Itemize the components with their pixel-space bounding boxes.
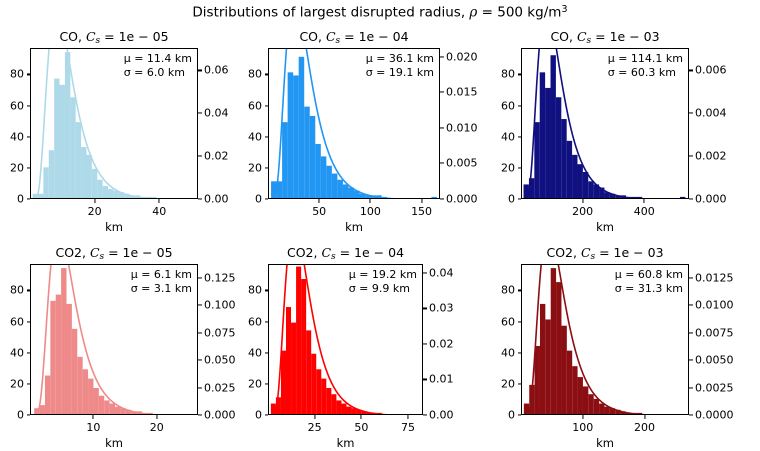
y-tickmark-right — [689, 70, 693, 71]
x-axis-label: km — [30, 436, 198, 450]
panel-co2-cs-1e-03: CO2, Cs = 1e − 03μ = 60.8 kmσ = 31.3 km0… — [521, 264, 689, 415]
y-tick-right: 0.000 — [695, 193, 727, 206]
y-tickmark-right — [440, 198, 444, 199]
y-tick-right: 0.100 — [204, 299, 236, 312]
y-tick-left: 80 — [501, 68, 515, 81]
y-tickmark-left — [265, 290, 269, 291]
y-tickmark-right — [198, 277, 202, 278]
x-tick: 200 — [634, 421, 655, 434]
stats-annotation: μ = 114.1 kmσ = 60.3 km — [608, 52, 683, 80]
x-axis-label: km — [521, 220, 689, 234]
y-tick-right: 0.02 — [429, 337, 454, 350]
y-tick-left: 20 — [501, 377, 515, 390]
x-tick: 150 — [411, 205, 432, 218]
x-axis-label: km — [30, 220, 198, 234]
y-tick-left: 80 — [10, 284, 24, 297]
y-tick-right: 0.03 — [429, 302, 454, 315]
y-tick-left: 60 — [248, 315, 262, 328]
panel-title: CO2, Cs = 1e − 05 — [30, 245, 198, 262]
y-tickmark-left — [27, 414, 31, 415]
y-tick-right: 0.0050 — [695, 354, 734, 367]
y-tickmark-left — [265, 321, 269, 322]
y-tick-right: 0.015 — [446, 86, 478, 99]
y-tick-right: 0.06 — [204, 64, 229, 77]
y-tickmark-right — [440, 56, 444, 57]
x-axis-label: km — [268, 220, 440, 234]
y-tick-left: 0 — [508, 193, 515, 206]
y-tickmark-left — [518, 136, 522, 137]
mu-label: μ = 114.1 km — [608, 52, 683, 66]
stats-annotation: μ = 60.8 kmσ = 31.3 km — [615, 268, 683, 296]
stats-annotation: μ = 11.4 kmσ = 6.0 km — [124, 52, 192, 80]
sigma-label: σ = 60.3 km — [608, 66, 683, 80]
y-tickmark-left — [27, 352, 31, 353]
y-tick-left: 60 — [248, 99, 262, 112]
y-tickmark-right — [689, 332, 693, 333]
y-tickmark-left — [27, 383, 31, 384]
y-tickmark-left — [265, 414, 269, 415]
y-tickmark-right — [423, 308, 427, 309]
y-tickmark-left — [518, 290, 522, 291]
y-tickmark-left — [265, 352, 269, 353]
x-tickmark — [582, 199, 583, 203]
y-tickmark-left — [27, 321, 31, 322]
y-tick-right: 0.020 — [446, 50, 478, 63]
sigma-label: σ = 9.9 km — [349, 282, 417, 296]
y-tick-left: 40 — [10, 130, 24, 143]
y-tick-left: 20 — [10, 377, 24, 390]
y-tickmark-right — [198, 360, 202, 361]
y-tick-left: 80 — [248, 284, 262, 297]
x-tick: 400 — [634, 205, 655, 218]
y-tickmark-right — [689, 277, 693, 278]
x-tickmark — [156, 415, 157, 419]
x-tick: 25 — [308, 421, 322, 434]
y-tick-left: 20 — [501, 161, 515, 174]
y-tickmark-right — [198, 332, 202, 333]
mu-label: μ = 36.1 km — [366, 52, 434, 66]
y-tick-right: 0.000 — [446, 193, 478, 206]
y-tick-right: 0.02 — [204, 150, 229, 163]
y-tick-right: 0.000 — [204, 409, 236, 422]
x-tickmark — [94, 199, 95, 203]
y-tickmark-left — [518, 414, 522, 415]
y-tickmark-right — [689, 305, 693, 306]
figure-suptitle: Distributions of largest disrupted radiu… — [0, 4, 760, 20]
y-tick-left: 0 — [508, 409, 515, 422]
y-tick-left: 20 — [10, 161, 24, 174]
x-tick: 200 — [572, 205, 593, 218]
x-tickmark — [408, 415, 409, 419]
y-tick-left: 60 — [501, 315, 515, 328]
y-tickmark-left — [265, 167, 269, 168]
y-tickmark-right — [440, 127, 444, 128]
y-tickmark-left — [27, 105, 31, 106]
x-tickmark — [644, 415, 645, 419]
x-tickmark — [314, 415, 315, 419]
y-tickmark-right — [423, 343, 427, 344]
mu-label: μ = 6.1 km — [131, 268, 192, 282]
y-tick-left: 20 — [248, 377, 262, 390]
sigma-label: σ = 19.1 km — [366, 66, 434, 80]
y-tickmark-right — [440, 92, 444, 93]
y-tickmark-left — [27, 290, 31, 291]
x-tick: 10 — [86, 421, 100, 434]
y-tick-left: 0 — [255, 193, 262, 206]
plot-area: μ = 6.1 kmσ = 3.1 km — [30, 264, 198, 415]
y-tick-right: 0.01 — [429, 373, 454, 386]
x-axis-label: km — [268, 436, 423, 450]
y-tick-left: 40 — [248, 130, 262, 143]
mu-label: μ = 11.4 km — [124, 52, 192, 66]
y-tick-right: 0.00 — [429, 409, 454, 422]
y-tick-right: 0.04 — [429, 266, 454, 279]
x-tickmark — [361, 415, 362, 419]
figure-canvas: Distributions of largest disrupted radiu… — [0, 0, 760, 451]
plot-area: μ = 36.1 kmσ = 19.1 km — [268, 48, 440, 199]
y-tick-left: 0 — [17, 193, 24, 206]
y-tick-left: 60 — [10, 99, 24, 112]
plot-area: μ = 114.1 kmσ = 60.3 km — [521, 48, 689, 199]
y-tickmark-left — [27, 136, 31, 137]
y-tickmark-right — [689, 387, 693, 388]
y-tick-left: 80 — [248, 68, 262, 81]
y-tick-left: 40 — [248, 346, 262, 359]
y-tickmark-left — [265, 105, 269, 106]
y-tick-left: 0 — [255, 409, 262, 422]
y-tickmark-right — [198, 156, 202, 157]
stats-annotation: μ = 36.1 kmσ = 19.1 km — [366, 52, 434, 80]
y-tick-right: 0.050 — [204, 354, 236, 367]
y-tickmark-left — [518, 383, 522, 384]
y-tickmark-right — [198, 198, 202, 199]
y-tick-left: 80 — [10, 68, 24, 81]
y-tick-right: 0.0100 — [695, 299, 734, 312]
y-tickmark-left — [518, 198, 522, 199]
y-tickmark-left — [27, 198, 31, 199]
y-tick-right: 0.010 — [446, 121, 478, 134]
y-tickmark-left — [265, 198, 269, 199]
x-tickmark — [582, 415, 583, 419]
x-tickmark — [421, 199, 422, 203]
x-tick: 100 — [572, 421, 593, 434]
panel-title: CO2, Cs = 1e − 03 — [521, 245, 689, 262]
plot-area: μ = 11.4 kmσ = 6.0 km — [30, 48, 198, 199]
x-tick: 40 — [152, 205, 166, 218]
y-tickmark-right — [198, 70, 202, 71]
x-tickmark — [159, 199, 160, 203]
y-tick-right: 0.0025 — [695, 381, 734, 394]
x-tick: 50 — [312, 205, 326, 218]
y-tick-left: 60 — [501, 99, 515, 112]
y-tick-right: 0.005 — [446, 157, 478, 170]
y-tickmark-right — [423, 379, 427, 380]
panel-co2-cs-1e-04: CO2, Cs = 1e − 04μ = 19.2 kmσ = 9.9 km02… — [268, 264, 423, 415]
stats-annotation: μ = 19.2 kmσ = 9.9 km — [349, 268, 417, 296]
x-tick: 75 — [401, 421, 415, 434]
y-tick-left: 40 — [501, 130, 515, 143]
mu-label: μ = 19.2 km — [349, 268, 417, 282]
y-tickmark-right — [198, 305, 202, 306]
y-tick-left: 60 — [10, 315, 24, 328]
y-tickmark-right — [423, 414, 427, 415]
x-tick: 100 — [360, 205, 381, 218]
x-tick: 20 — [150, 421, 164, 434]
y-tickmark-right — [198, 387, 202, 388]
panel-title: CO2, Cs = 1e − 04 — [268, 245, 423, 262]
panel-co2-cs-1e-05: CO2, Cs = 1e − 05μ = 6.1 kmσ = 3.1 km020… — [30, 264, 198, 415]
y-tickmark-right — [198, 113, 202, 114]
y-tick-right: 0.004 — [695, 107, 727, 120]
stats-annotation: μ = 6.1 kmσ = 3.1 km — [131, 268, 192, 296]
panel-title: CO, Cs = 1e − 03 — [521, 29, 689, 46]
y-tick-left: 40 — [501, 346, 515, 359]
y-tickmark-right — [689, 360, 693, 361]
y-tick-right: 0.075 — [204, 326, 236, 339]
y-tickmark-right — [689, 414, 693, 415]
y-tick-left: 40 — [10, 346, 24, 359]
y-tickmark-left — [518, 352, 522, 353]
x-tickmark — [370, 199, 371, 203]
y-tickmark-right — [423, 272, 427, 273]
y-tick-left: 0 — [17, 409, 24, 422]
y-tick-right: 0.0075 — [695, 326, 734, 339]
y-tick-right: 0.00 — [204, 193, 229, 206]
y-tick-right: 0.002 — [695, 150, 727, 163]
sigma-label: σ = 31.3 km — [615, 282, 683, 296]
y-tickmark-left — [518, 74, 522, 75]
y-tick-right: 0.006 — [695, 64, 727, 77]
panel-title: CO, Cs = 1e − 04 — [268, 29, 440, 46]
y-tickmark-left — [265, 74, 269, 75]
panel-co-cs-1e-03: CO, Cs = 1e − 03μ = 114.1 kmσ = 60.3 km0… — [521, 48, 689, 199]
x-tickmark — [644, 199, 645, 203]
y-tickmark-left — [27, 74, 31, 75]
y-tick-right: 0.04 — [204, 107, 229, 120]
y-tick-right: 0.0000 — [695, 409, 734, 422]
y-tickmark-right — [689, 198, 693, 199]
panel-title: CO, Cs = 1e − 05 — [30, 29, 198, 46]
sigma-label: σ = 6.0 km — [124, 66, 192, 80]
y-tick-left: 20 — [248, 161, 262, 174]
x-tick: 50 — [354, 421, 368, 434]
y-tickmark-right — [198, 414, 202, 415]
sigma-label: σ = 3.1 km — [131, 282, 192, 296]
plot-area: μ = 19.2 kmσ = 9.9 km — [268, 264, 423, 415]
y-tickmark-right — [689, 113, 693, 114]
y-tickmark-left — [518, 167, 522, 168]
y-tickmark-left — [27, 167, 31, 168]
plot-area: μ = 60.8 kmσ = 31.3 km — [521, 264, 689, 415]
y-tickmark-right — [689, 156, 693, 157]
y-tickmark-left — [518, 321, 522, 322]
y-tickmark-left — [265, 383, 269, 384]
panel-co-cs-1e-04: CO, Cs = 1e − 04μ = 36.1 kmσ = 19.1 km02… — [268, 48, 440, 199]
y-tickmark-left — [518, 105, 522, 106]
y-tickmark-left — [265, 136, 269, 137]
x-tickmark — [93, 415, 94, 419]
y-tick-right: 0.0125 — [695, 271, 734, 284]
y-tick-right: 0.025 — [204, 381, 236, 394]
x-tick: 20 — [88, 205, 102, 218]
x-tickmark — [319, 199, 320, 203]
y-tick-left: 80 — [501, 284, 515, 297]
y-tick-right: 0.125 — [204, 271, 236, 284]
panel-co-cs-1e-05: CO, Cs = 1e − 05μ = 11.4 kmσ = 6.0 km020… — [30, 48, 198, 199]
x-axis-label: km — [521, 436, 689, 450]
mu-label: μ = 60.8 km — [615, 268, 683, 282]
y-tickmark-right — [440, 163, 444, 164]
